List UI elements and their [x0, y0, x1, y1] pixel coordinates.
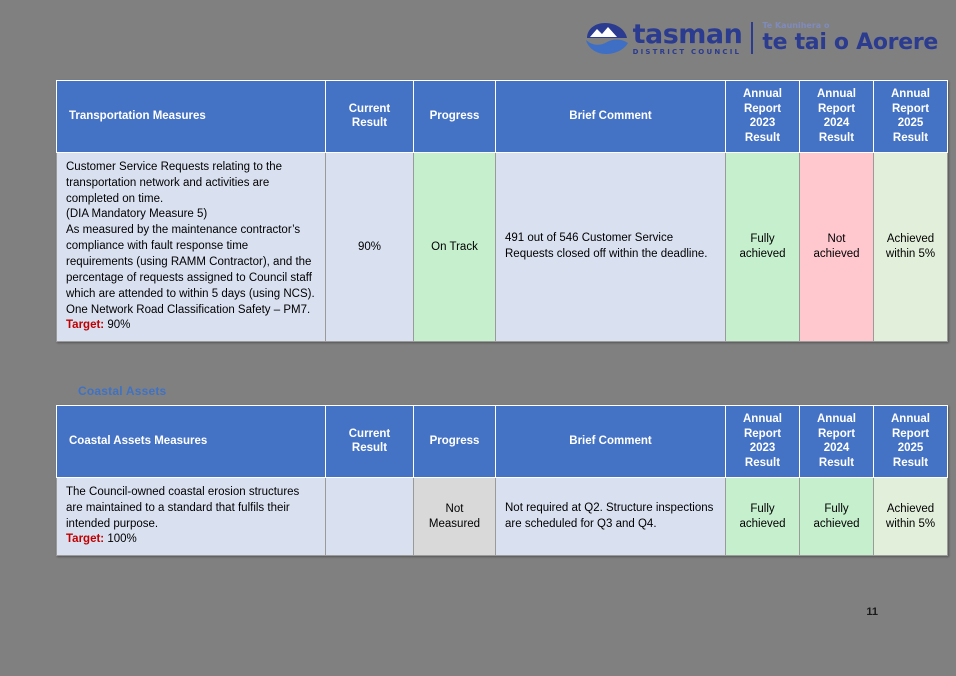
- ar2025-line2: Report: [892, 103, 929, 115]
- table-header: Transportation Measures Current Result P…: [57, 81, 948, 153]
- column-header-annual-report-2023: Annual Report 2023 Result: [726, 81, 800, 153]
- ar2024-line1: Annual: [817, 88, 856, 100]
- table-row: The Council-owned coastal erosion struct…: [57, 477, 948, 555]
- current-result-cell: [326, 477, 414, 555]
- brief-comment-cell: Not required at Q2. Structure inspection…: [496, 477, 726, 555]
- measure-target: Target: 100%: [66, 532, 316, 548]
- ar2024-line1: Annual: [817, 413, 856, 425]
- ar2025-line4: Result: [893, 457, 928, 469]
- target-label: Target:: [66, 533, 104, 545]
- column-header-progress: Progress: [414, 81, 496, 153]
- logo-wordmark: tasman DISTRICT COUNCIL: [633, 21, 743, 56]
- current-result-line1: Current: [349, 103, 391, 115]
- ar2024-line4: Result: [819, 457, 854, 469]
- logo-divider: [751, 22, 753, 54]
- ar2024-line3: 2024: [824, 442, 850, 454]
- ar2025-line2: Report: [892, 428, 929, 440]
- table-body: Customer Service Requests relating to th…: [57, 152, 948, 341]
- ar2023-line2: Report: [744, 103, 781, 115]
- column-header-brief-comment: Brief Comment: [496, 81, 726, 153]
- column-header-progress: Progress: [414, 406, 496, 478]
- current-result-line2: Result: [352, 117, 387, 129]
- ar2023-line3: 2023: [750, 117, 776, 129]
- progress-status-badge: Not Measured: [414, 477, 496, 555]
- ar2024-line2: Report: [818, 103, 855, 115]
- annual-report-2023-result: Fully achieved: [726, 477, 800, 555]
- logo-maori-name: te tai o Aorere: [762, 32, 938, 54]
- logo-maori-block: Te Kaunihera o te tai o Aorere: [762, 22, 938, 54]
- ar2023-line1: Annual: [743, 88, 782, 100]
- logo-brand-name: tasman: [633, 21, 743, 48]
- target-value: 100%: [107, 533, 136, 545]
- measure-description-cell: Customer Service Requests relating to th…: [57, 152, 326, 341]
- section-heading-coastal-assets: Coastal Assets: [78, 384, 166, 398]
- current-result-cell: 90%: [326, 152, 414, 341]
- logo-maori-prefix: Te Kaunihera o: [762, 22, 938, 30]
- ar2024-line4: Result: [819, 132, 854, 144]
- annual-report-2025-result: Achieved within 5%: [874, 152, 948, 341]
- header-row: Transportation Measures Current Result P…: [57, 81, 948, 153]
- current-result-line1: Current: [349, 428, 391, 440]
- coastal-assets-measures-table: Coastal Assets Measures Current Result P…: [56, 405, 948, 556]
- column-header-annual-report-2023: Annual Report 2023 Result: [726, 406, 800, 478]
- ar2024-line2: Report: [818, 428, 855, 440]
- ar2025-line1: Annual: [891, 413, 930, 425]
- measure-description-text: The Council-owned coastal erosion struct…: [66, 485, 316, 533]
- ar2024-line3: 2024: [824, 117, 850, 129]
- ar2023-line3: 2023: [750, 442, 776, 454]
- column-header-annual-report-2025: Annual Report 2025 Result: [874, 406, 948, 478]
- ar2023-line1: Annual: [743, 413, 782, 425]
- ar2025-line3: 2025: [898, 442, 924, 454]
- ar2025-line1: Annual: [891, 88, 930, 100]
- column-header-current-result: Current Result: [326, 81, 414, 153]
- target-value: 90%: [107, 319, 130, 331]
- table-header: Coastal Assets Measures Current Result P…: [57, 406, 948, 478]
- page-number: 11: [866, 606, 878, 618]
- transportation-measures-table: Transportation Measures Current Result P…: [56, 80, 948, 342]
- annual-report-2025-result: Achieved within 5%: [874, 477, 948, 555]
- annual-report-2024-result: Fully achieved: [800, 477, 874, 555]
- current-result-line2: Result: [352, 442, 387, 454]
- ar2025-line3: 2025: [898, 117, 924, 129]
- measure-description-cell: The Council-owned coastal erosion struct…: [57, 477, 326, 555]
- brief-comment-cell: 491 out of 546 Customer Service Requests…: [496, 152, 726, 341]
- column-header-annual-report-2025: Annual Report 2025 Result: [874, 81, 948, 153]
- measure-description-text: Customer Service Requests relating to th…: [66, 160, 316, 319]
- column-header-measures: Coastal Assets Measures: [57, 406, 326, 478]
- ar2023-line2: Report: [744, 428, 781, 440]
- column-header-current-result: Current Result: [326, 406, 414, 478]
- table-row: Customer Service Requests relating to th…: [57, 152, 948, 341]
- column-header-annual-report-2024: Annual Report 2024 Result: [800, 406, 874, 478]
- column-header-brief-comment: Brief Comment: [496, 406, 726, 478]
- table-body: The Council-owned coastal erosion struct…: [57, 477, 948, 555]
- tasman-district-council-logo: tasman DISTRICT COUNCIL Te Kaunihera o t…: [584, 18, 938, 58]
- column-header-annual-report-2024: Annual Report 2024 Result: [800, 81, 874, 153]
- target-label: Target:: [66, 319, 104, 331]
- progress-status-badge: On Track: [414, 152, 496, 341]
- ar2025-line4: Result: [893, 132, 928, 144]
- logo-brand-subtitle: DISTRICT COUNCIL: [633, 49, 743, 56]
- column-header-measures: Transportation Measures: [57, 81, 326, 153]
- measure-target: Target: 90%: [66, 318, 316, 334]
- annual-report-2023-result: Fully achieved: [726, 152, 800, 341]
- header-row: Coastal Assets Measures Current Result P…: [57, 406, 948, 478]
- mountain-wave-icon: [584, 21, 630, 55]
- annual-report-2024-result: Not achieved: [800, 152, 874, 341]
- ar2023-line4: Result: [745, 457, 780, 469]
- ar2023-line4: Result: [745, 132, 780, 144]
